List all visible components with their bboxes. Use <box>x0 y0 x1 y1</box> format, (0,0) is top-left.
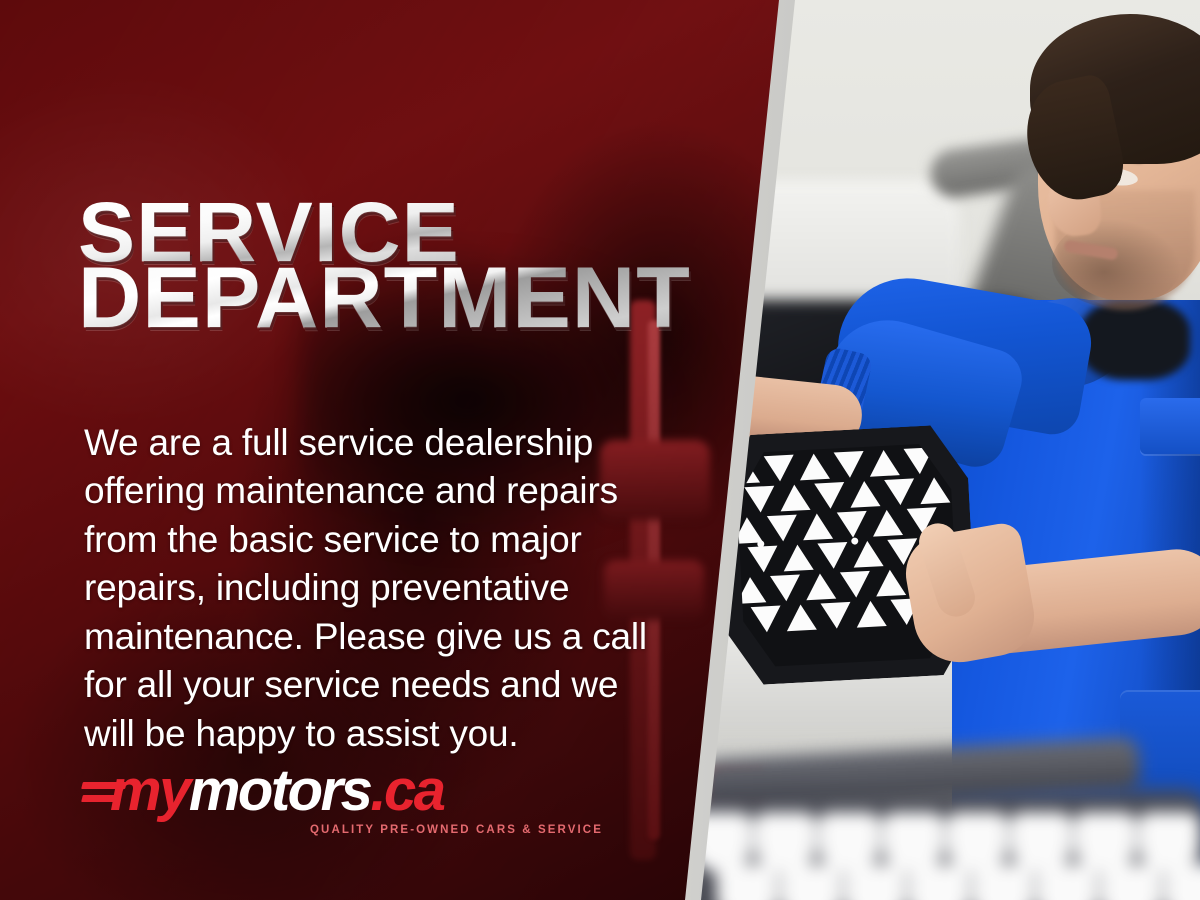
foreground-blurred-markers <box>690 812 1200 900</box>
logo-wordmark: mymotors.ca <box>110 762 444 820</box>
foreground-marker-blob <box>690 812 752 872</box>
board-marker-triangle <box>833 451 864 479</box>
page-title: SERVICE DEPARTMENT <box>78 196 698 336</box>
foreground-marker-blob <box>882 812 944 872</box>
board-marker-triangle <box>766 514 797 542</box>
logo-my: my <box>110 758 189 823</box>
foreground-marker-blob <box>1010 812 1072 872</box>
foreground-marker-blob <box>1164 864 1200 900</box>
board-marker-triangle <box>874 569 905 597</box>
board-marker-triangle <box>804 572 835 600</box>
board-marker-triangle <box>782 543 813 571</box>
logo-ca: .ca <box>370 758 443 823</box>
board-marker-triangle <box>884 478 915 506</box>
headline-line-2: DEPARTMENT <box>78 262 710 336</box>
board-marker-triangle <box>763 454 794 482</box>
foreground-marker-blob <box>1100 864 1162 900</box>
board-marker-triangle <box>868 449 899 477</box>
foreground-marker-blob <box>908 864 970 900</box>
logo-tagline: QUALITY PRE-OWNED CARS & SERVICE <box>310 824 603 836</box>
foreground-marker-blob <box>972 864 1034 900</box>
board-marker-triangle <box>849 480 880 508</box>
board-marker-triangle <box>779 483 810 511</box>
foreground-marker-blob <box>844 864 906 900</box>
foreground-marker-blob <box>716 864 778 900</box>
foreground-marker-blob <box>1036 864 1098 900</box>
board-marker-triangle <box>798 452 829 480</box>
board-marker-triangle <box>750 605 781 633</box>
body-paragraph: We are a full service dealership offerin… <box>84 419 664 758</box>
board-marker-triangle <box>747 545 778 573</box>
board-marker-triangle <box>836 510 867 538</box>
foreground-marker-blob <box>818 812 880 872</box>
board-marker-triangle <box>814 482 845 510</box>
service-department-banner: SERVICE DEPARTMENT We are a full service… <box>0 0 1200 900</box>
board-marker-triangle <box>817 541 848 569</box>
mymotors-logo[interactable]: mymotors.ca QUALITY PRE-OWNED CARS & SER… <box>82 762 522 840</box>
board-marker-triangle <box>801 512 832 540</box>
foreground-marker-blob <box>1138 812 1200 872</box>
logo-motors: motors <box>189 758 371 823</box>
board-marker-triangle <box>820 601 851 629</box>
foreground-marker-blob <box>754 812 816 872</box>
board-marker-triangle <box>871 509 902 537</box>
board-reference-dot <box>851 537 858 544</box>
board-marker-triangle <box>785 603 816 631</box>
board-marker-triangle <box>769 574 800 602</box>
coveralls-chest-pocket <box>1140 398 1200 454</box>
board-reference-dot <box>757 540 764 547</box>
foreground-marker-blob <box>946 812 1008 872</box>
board-marker-triangle <box>839 570 870 598</box>
mechanic-neck-shadow <box>1080 300 1190 380</box>
foreground-marker-blob <box>1074 812 1136 872</box>
foreground-marker-blob <box>780 864 842 900</box>
board-marker-triangle <box>744 485 775 513</box>
board-marker-triangle <box>855 600 886 628</box>
